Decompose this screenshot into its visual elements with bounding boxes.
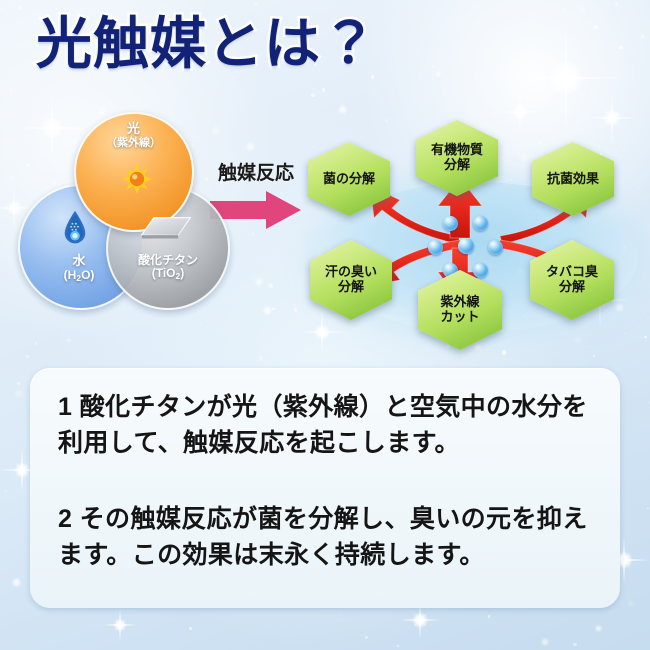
sparkle-ray <box>13 188 15 228</box>
sparkle-ray <box>586 117 638 119</box>
venn-label-water-sub: (H2O) <box>30 269 128 284</box>
bokeh-dot <box>269 283 273 287</box>
sparkle-ray <box>115 623 124 628</box>
sparkle-ray <box>21 448 23 492</box>
venn-label-light: 光 （紫外線） <box>96 122 171 149</box>
bokeh-dot <box>542 639 548 645</box>
sparkle-ray <box>412 612 429 629</box>
sparkle-ray <box>19 464 25 477</box>
bokeh-dot <box>311 93 315 97</box>
sparkle-ray <box>115 623 124 628</box>
poster-canvas: 光触媒とは？ <box>0 0 650 650</box>
sparkle-ray <box>113 618 126 631</box>
venn-diagram: 光 （紫外線） 水 (H2O) 酸化チタン (TiO2) <box>18 112 233 312</box>
bokeh-dot <box>17 382 21 386</box>
sparkle-core <box>512 104 528 120</box>
bokeh-dot <box>247 143 254 150</box>
bokeh-dot <box>563 7 566 10</box>
effect-hex-yuki-bunkai[interactable]: 有機物質 分解 <box>416 120 498 196</box>
sparkle-ray <box>500 111 540 113</box>
hex-line2: 分解 <box>444 157 470 172</box>
sun-icon <box>122 164 152 194</box>
venn-label-tio2-main: 酸化チタン <box>138 253 198 267</box>
sparkle-ray <box>414 617 425 623</box>
sparkle-ray <box>118 620 123 629</box>
bokeh-dot <box>5 490 7 492</box>
molecule-dot <box>443 216 458 231</box>
bokeh-dot <box>573 643 576 646</box>
bokeh-dot <box>502 350 507 355</box>
bokeh-dot <box>596 626 601 631</box>
page-title: 光触媒とは？ <box>36 16 378 72</box>
sparkle-ray <box>512 104 529 121</box>
bokeh-dot <box>108 102 111 105</box>
venn-label-light-main: 光 <box>127 121 140 136</box>
bokeh-dot <box>35 342 38 345</box>
bokeh-dot <box>189 627 192 630</box>
bokeh-dot <box>9 68 11 70</box>
sparkle-ray <box>11 202 17 213</box>
sparkle-core <box>412 612 428 628</box>
venn-label-water-main: 水 <box>72 253 85 268</box>
bokeh-dot <box>371 75 375 79</box>
sparkle-ray <box>541 53 590 102</box>
bokeh-dot <box>593 355 596 358</box>
sparkle-ray <box>104 624 136 626</box>
sparkle-ray <box>514 109 525 115</box>
description-panel: 1 酸化チタンが光（紫外線）と空気中の水分を利用して、触媒反応を起こします。 2… <box>30 368 620 608</box>
sparkle-core <box>114 619 127 632</box>
sparkle-ray <box>13 461 31 479</box>
sparkle-ray <box>13 461 31 479</box>
sparkle-ray <box>504 77 628 79</box>
sparkle-ray <box>113 618 126 631</box>
hex-line2: 分解 <box>338 279 364 294</box>
bokeh-dot <box>272 308 275 311</box>
venn-label-water: 水 (H2O) <box>30 254 128 283</box>
bokeh-dot <box>233 77 235 79</box>
hex-body: 菌の分解 <box>308 142 390 216</box>
sparkle-core <box>548 60 584 96</box>
sparkle-ray <box>16 467 29 473</box>
hex-line1: 菌の分解 <box>323 171 375 186</box>
sparkle-ray <box>558 61 573 96</box>
bokeh-dot <box>579 106 580 107</box>
sparkle-ray <box>621 553 627 567</box>
bokeh-dot <box>641 35 644 38</box>
bokeh-dot <box>264 307 271 314</box>
sparkle-core <box>14 462 30 478</box>
hex-line1: 汗の臭い <box>325 264 377 279</box>
effect-hex-shigaisen-cut[interactable]: 紫外線 カット <box>418 270 502 350</box>
bokeh-dot <box>256 279 262 285</box>
bokeh-dot <box>26 355 29 358</box>
sparkle-ray <box>16 467 29 473</box>
sparkle-ray <box>621 553 627 567</box>
venn-label-titanium-dioxide: 酸化チタン (TiO2) <box>118 254 218 282</box>
bokeh-dot <box>488 615 491 618</box>
bokeh-dot <box>452 118 454 120</box>
bokeh-dot <box>75 91 76 92</box>
sparkle-ray <box>517 106 523 117</box>
bokeh-dot <box>322 88 326 92</box>
hex-body: 汗の臭い 分解 <box>310 240 392 320</box>
hex-body: タバコ臭 分解 <box>530 240 614 320</box>
sparkle-ray <box>541 53 590 102</box>
hex-line1: タバコ臭 <box>546 264 598 279</box>
sparkle-ray <box>623 536 625 584</box>
hex-line2: 分解 <box>559 279 585 294</box>
bokeh-dot <box>4 245 6 247</box>
sparkle-ray <box>19 464 25 477</box>
description-paragraph-2: 2 その触媒反応が菌を分解し、臭いの元を抑えます。この効果は末永く持続します。 <box>58 502 598 573</box>
molecule-dot <box>428 240 443 255</box>
bokeh-dot <box>628 601 633 606</box>
sparkle-ray <box>417 614 423 625</box>
bokeh-dot <box>200 324 201 325</box>
bokeh-dot <box>648 402 649 403</box>
bokeh-dot <box>67 339 71 343</box>
hex-body: 紫外線 カット <box>418 270 502 350</box>
bokeh-dot <box>622 422 625 425</box>
bokeh-dot <box>615 3 619 7</box>
bokeh-dot <box>259 356 264 361</box>
molecule-dot <box>488 240 503 255</box>
description-paragraph-1: 1 酸化チタンが光（紫外線）と空気中の水分を利用して、触媒反応を起こします。 <box>58 390 598 461</box>
bokeh-dot <box>13 579 20 586</box>
bokeh-dot <box>339 106 346 113</box>
bokeh-dot <box>432 65 436 69</box>
bokeh-dot <box>182 613 183 614</box>
sparkle-ray <box>417 614 423 625</box>
bokeh-dot <box>397 645 399 647</box>
sparkle-ray <box>512 104 529 121</box>
catalytic-reaction-label: 触媒反応 <box>200 158 312 185</box>
bokeh-dot <box>365 636 368 639</box>
hex-line1: 抗菌効果 <box>547 171 599 186</box>
bokeh-dot <box>11 175 14 178</box>
bokeh-dot <box>591 94 592 95</box>
effects-diagram: 菌の分解 有機物質 分解 抗菌効果 汗の臭い 分解 <box>300 120 650 350</box>
molecule-dot <box>458 238 474 254</box>
bokeh-dot <box>441 39 442 40</box>
water-drop-icon <box>62 210 88 246</box>
hex-line1: 有機物質 <box>431 142 483 157</box>
bokeh-dot <box>321 360 323 362</box>
bokeh-dot <box>546 12 547 13</box>
bokeh-dot <box>18 6 23 11</box>
hex-body: 有機物質 分解 <box>416 120 498 196</box>
hex-line2: カット <box>440 309 479 324</box>
venn-label-light-sub: （紫外線） <box>96 137 171 149</box>
effect-hex-kin-bunkai[interactable]: 菌の分解 <box>308 142 390 216</box>
sparkle-ray <box>118 620 123 629</box>
sparkle-ray <box>400 619 440 621</box>
sparkle-ray <box>549 70 584 85</box>
effect-hex-tabako-bunkai[interactable]: タバコ臭 分解 <box>530 240 614 320</box>
sparkle-ray <box>11 202 17 213</box>
bokeh-dot <box>9 88 13 92</box>
bokeh-dot <box>294 308 298 312</box>
bokeh-dot <box>596 35 598 37</box>
bokeh-dot <box>436 72 441 77</box>
sparkle-ray <box>558 61 573 96</box>
sparkle-ray <box>119 609 121 641</box>
titanium-plate-icon <box>140 214 192 244</box>
bokeh-dot <box>0 8 2 10</box>
bokeh-dot <box>255 3 257 5</box>
hex-body: 抗菌効果 <box>532 142 614 216</box>
molecule-dot <box>473 216 488 231</box>
effect-hex-kokin-kouka[interactable]: 抗菌効果 <box>532 142 614 216</box>
sparkle-ray <box>514 109 525 115</box>
sparkle-ray <box>517 106 523 117</box>
bokeh-dot <box>339 609 341 611</box>
sparkle-ray <box>412 612 429 629</box>
bokeh-dot <box>580 7 586 13</box>
bokeh-dot <box>15 390 23 398</box>
bokeh-dot <box>619 46 622 49</box>
effect-hex-ase-bunkai[interactable]: 汗の臭い 分解 <box>310 240 392 320</box>
bokeh-dot <box>647 508 649 510</box>
hex-line1: 紫外線 <box>440 294 479 309</box>
bokeh-dot <box>594 25 598 29</box>
sparkle-ray <box>414 617 425 623</box>
venn-label-tio2-sub: (TiO2) <box>118 267 218 282</box>
bokeh-dot <box>616 112 619 115</box>
bokeh-dot <box>167 609 169 611</box>
sparkle-ray <box>549 70 584 85</box>
